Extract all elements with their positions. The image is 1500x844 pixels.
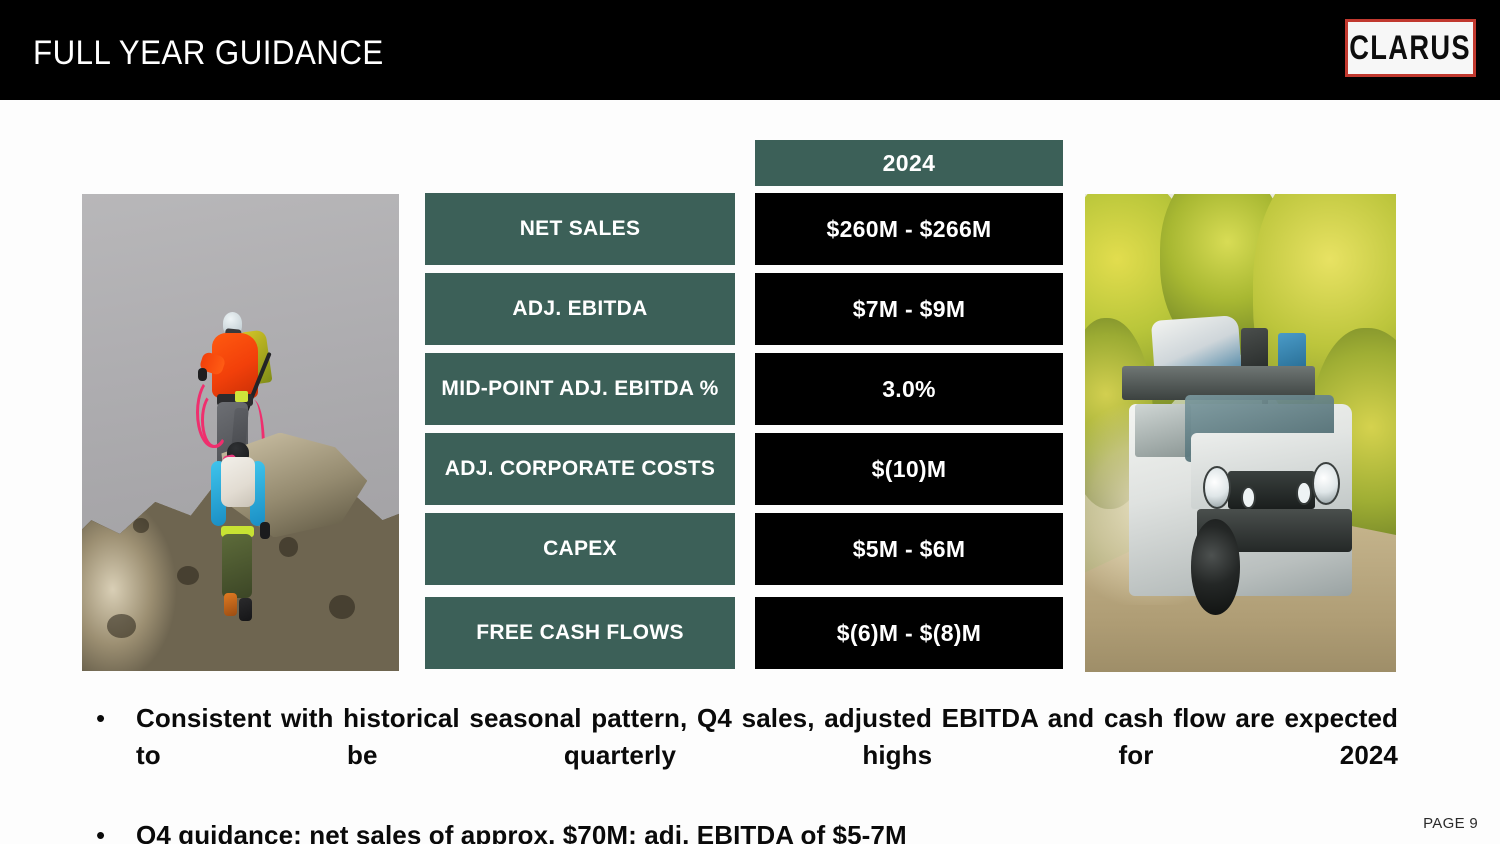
row-label-text: FREE CASH FLOWS (476, 621, 684, 645)
row-label-text: CAPEX (543, 537, 617, 561)
page-number: PAGE 9 (1423, 815, 1478, 832)
headlight-right (1312, 462, 1340, 505)
table-row-label-adj-ebitda: ADJ. EBITDA (425, 273, 735, 345)
bullet-text: Q4 guidance: net sales of approx. $70M; … (136, 817, 1398, 844)
climbers-photo (82, 194, 399, 671)
row-label-text: MID-POINT ADJ. EBITDA % (441, 377, 718, 401)
front-wheel (1191, 519, 1241, 615)
dark-boot (239, 598, 252, 621)
table-column-header-label: 2024 (883, 150, 936, 177)
row-value-text: $(6)M - $(8)M (837, 620, 981, 647)
bullet-marker-icon: • (88, 700, 136, 736)
table-row-value-free-cash-flows: $(6)M - $(8)M (755, 597, 1063, 669)
list-item: • Q4 guidance: net sales of approx. $70M… (88, 817, 1398, 844)
pink-rope-coil-inner (201, 392, 228, 448)
list-item: • Consistent with historical seasonal pa… (88, 700, 1398, 811)
clarus-logo: CLARUS (1345, 19, 1476, 77)
bullet-text: Consistent with historical seasonal patt… (136, 700, 1398, 811)
bullet-list: • Consistent with historical seasonal pa… (88, 700, 1398, 844)
row-value-text: 3.0% (882, 376, 936, 403)
rock-shadow (329, 595, 354, 619)
climber-ascending (202, 442, 284, 633)
olive-pants (222, 534, 252, 599)
table-column-header-2024: 2024 (755, 140, 1063, 186)
white-backpack (221, 457, 256, 507)
row-value-text: $(10)M (872, 456, 947, 483)
side-window (1135, 404, 1191, 457)
table-row-label-mid-point-adj-ebitda-pct: MID-POINT ADJ. EBITDA % (425, 353, 735, 425)
logo-wordmark: CLARUS (1350, 28, 1472, 68)
rock-shadow (107, 614, 136, 638)
table-row-label-net-sales: NET SALES (425, 193, 735, 265)
rock-shadow (133, 518, 149, 532)
table-row-value-net-sales: $260M - $266M (755, 193, 1063, 265)
table-row-value-adj-ebitda: $7M - $9M (755, 273, 1063, 345)
row-value-text: $260M - $266M (827, 216, 992, 243)
row-label-text: ADJ. EBITDA (512, 297, 647, 321)
row-label-text: ADJ. CORPORATE COSTS (445, 457, 715, 481)
page-title: FULL YEAR GUIDANCE (33, 34, 384, 73)
table-row-label-free-cash-flows: FREE CASH FLOWS (425, 597, 735, 669)
bullet-marker-icon: • (88, 817, 136, 844)
table-row-value-mid-point-adj-ebitda-pct: 3.0% (755, 353, 1063, 425)
black-glove (260, 522, 270, 539)
table-row-value-adj-corporate-costs: $(10)M (755, 433, 1063, 505)
row-label-text: NET SALES (520, 217, 641, 241)
orange-boot (224, 593, 237, 616)
table-row-label-capex: CAPEX (425, 513, 735, 585)
offroad-suv-photo (1085, 194, 1396, 672)
slide-full-year-guidance: FULL YEAR GUIDANCE CLARUS (0, 0, 1500, 844)
table-row-value-capex: $5M - $6M (755, 513, 1063, 585)
row-value-text: $5M - $6M (853, 536, 966, 563)
fog-lamp-right (1296, 481, 1312, 505)
row-value-text: $7M - $9M (853, 296, 966, 323)
table-row-label-adj-corporate-costs: ADJ. CORPORATE COSTS (425, 433, 735, 505)
